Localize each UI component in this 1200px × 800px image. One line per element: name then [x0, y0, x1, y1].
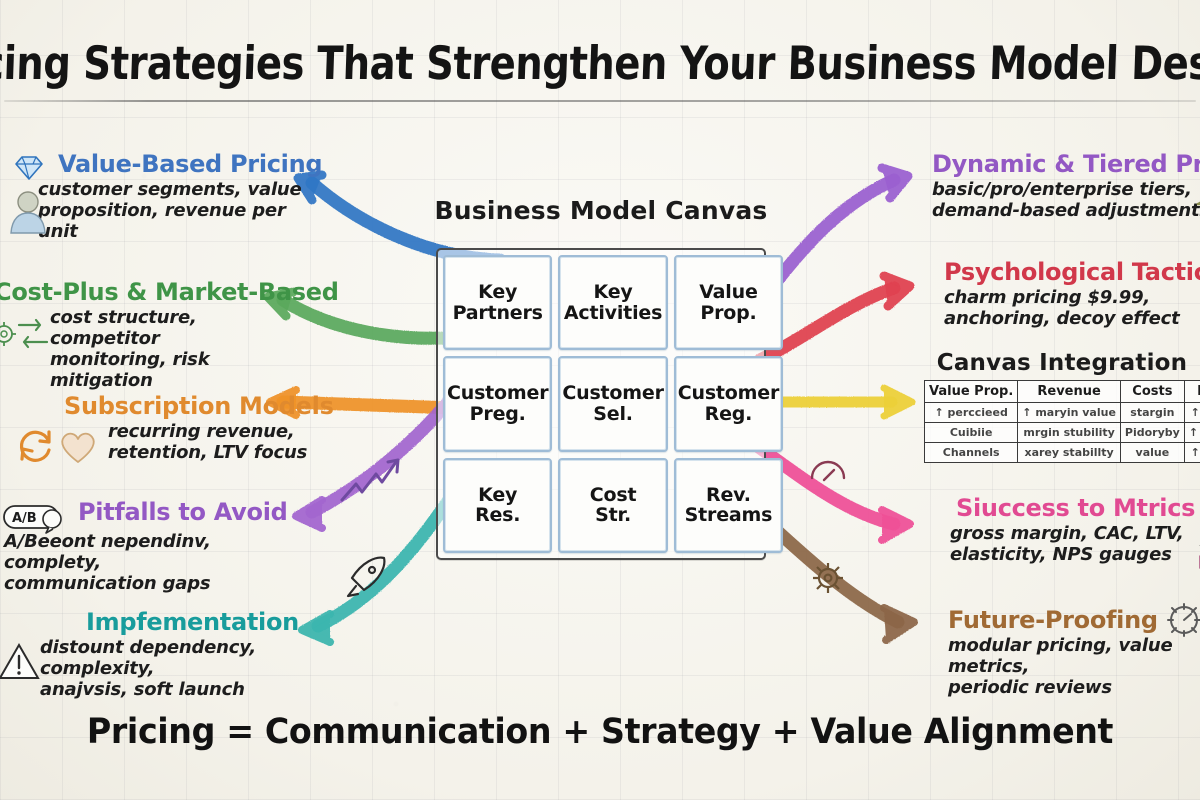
table-cell: mrgin stubility: [1018, 423, 1121, 443]
entry-desc: gross margin, CAC, LTV,elasticity, NPS g…: [950, 524, 1200, 566]
canvas-cell-key-res[interactable]: KeyRes.: [443, 458, 552, 553]
table-cell: ↑ maryin value: [1018, 403, 1121, 423]
table-row: ↑ perccieed ↑ maryin value stargin ↑ tra…: [925, 403, 1200, 423]
footer-equation-text: Pricing = Communication + Strategy + Val…: [87, 712, 1113, 752]
entry-desc: basic/pro/enterprise tiers,demand-based …: [932, 180, 1200, 222]
table-header-cell: Revenue: [1018, 381, 1121, 403]
integration-table: Value Prop. Revenue Costs Relations ↑ pe…: [924, 380, 1200, 463]
table-cell: Cuibiie: [925, 423, 1018, 443]
title-underline-rule: [4, 100, 1196, 102]
entry-pitfalls-to-avoid[interactable]: A/B Pitfalls to Avoid A/Beeont nependinv…: [0, 500, 310, 595]
table-cell: stargin: [1120, 403, 1184, 423]
table-row: Cuibiie mrgin stubility Pidoryby ↑ trans…: [925, 423, 1200, 443]
entry-desc: A/Beeont nependinv, complety,communicati…: [0, 532, 310, 595]
entry-desc: customer segments, valueproposition, rev…: [8, 180, 308, 243]
canvas-cell-rev-streams[interactable]: Rev.Streams: [674, 458, 783, 553]
canvas-grid: KeyPartners KeyActivities ValueProp. Cus…: [443, 255, 759, 553]
table-header-cell: Value Prop.: [925, 381, 1018, 403]
tiers-stack-icon: [1192, 194, 1200, 234]
entry-heading: Psychological Tactics: [944, 260, 1200, 284]
svg-text:A/B: A/B: [12, 511, 37, 526]
table-cell: xarey stabillty: [1018, 443, 1121, 463]
business-model-canvas: Business Model Canvas KeyPartners KeyAct…: [436, 248, 766, 560]
canvas-cell-key-partners[interactable]: KeyPartners: [443, 255, 552, 350]
table-header-cell: Costs: [1120, 381, 1184, 403]
canvas-cell-customer-reg[interactable]: CustomerReg.: [674, 356, 783, 451]
table-cell: Pidoryby: [1120, 423, 1184, 443]
exchange-arrows-icon: [16, 312, 50, 356]
entry-psychological-tactics[interactable]: Psychological Tactics charm pricing $9.9…: [944, 260, 1200, 330]
entry-desc: charm pricing $9.99,anchoring, decoy eff…: [944, 288, 1200, 330]
bar-chart-icon: [1194, 526, 1200, 574]
table-cell: ↑ perccieed: [925, 403, 1018, 423]
entry-heading: Value-Based Pricing: [58, 152, 308, 176]
entry-cost-plus-market-based[interactable]: Cost-Plus & Market-Based cost structure,…: [0, 280, 304, 392]
table-header-cell: Relations: [1184, 381, 1200, 403]
entry-heading: Siuccess to Mtrics: [956, 496, 1200, 520]
gear-clock-icon: [1162, 598, 1200, 642]
page-title: Pricing Strategies That Strengthen Your …: [0, 36, 1200, 90]
canvas-integration-table-block: Canvas Integration Value Prop. Revenue C…: [924, 350, 1200, 463]
refresh-cycle-icon: [16, 426, 56, 466]
entry-future-proofing[interactable]: Future-Proofing modular pricing, value m…: [948, 608, 1200, 699]
entry-subscription-models[interactable]: Subscription Models recurring revenue,re…: [16, 394, 316, 464]
table-cell: ↑ transparen: [1184, 403, 1200, 423]
person-icon: [8, 188, 48, 234]
entry-success-metrics[interactable]: Siuccess to Mtrics gross margin, CAC, LT…: [956, 496, 1200, 566]
entry-heading: Cost-Plus & Market-Based: [0, 280, 304, 304]
table-cell: Channels: [925, 443, 1018, 463]
canvas-cell-customer-sel[interactable]: CustomerSel.: [558, 356, 667, 451]
entry-heading: Pitfalls to Avoid: [78, 500, 310, 524]
ab-test-badge-icon: A/B: [2, 502, 72, 536]
diamond-icon: [12, 154, 46, 182]
warning-triangle-icon: [0, 640, 42, 682]
table-row: Channels xarey stabillty value ↑ transpa…: [925, 443, 1200, 463]
canvas-cell-cost-str[interactable]: CostStr.: [558, 458, 667, 553]
footer-equation: Pricing = Communication + Strategy + Val…: [60, 712, 1140, 752]
entry-heading: Subscription Models: [64, 394, 316, 418]
page-title-text: Pricing Strategies That Strengthen Your …: [0, 36, 1200, 90]
integration-title: Canvas Integration: [924, 350, 1200, 376]
entry-desc: distount dependency, complexity,anajvsis…: [0, 638, 310, 701]
canvas-cell-value-prop[interactable]: ValueProp.: [674, 255, 783, 350]
table-cell: value: [1120, 443, 1184, 463]
canvas-title: Business Model Canvas: [435, 196, 768, 225]
entry-implementation[interactable]: Impfementation distount dependency, comp…: [0, 610, 310, 701]
entry-heading: Dynamic & Tiered Pricing: [932, 152, 1200, 176]
heart-icon: [56, 426, 100, 466]
table-cell: ↑ transparen: [1184, 443, 1200, 463]
title-block: Pricing Strategies That Strengthen Your …: [0, 36, 1200, 108]
entry-value-based-pricing[interactable]: Value-Based Pricing customer segments, v…: [8, 152, 308, 243]
entry-heading: Impfementation: [86, 610, 310, 634]
table-cell: ↑ transparem: [1184, 423, 1200, 443]
entry-desc: modular pricing, value metrics,periodic …: [948, 636, 1200, 699]
table-header-row: Value Prop. Revenue Costs Relations: [925, 381, 1200, 403]
entry-dynamic-tiered-pricing[interactable]: Dynamic & Tiered Pricing basic/pro/enter…: [932, 152, 1200, 222]
canvas-cell-key-activities[interactable]: KeyActivities: [558, 255, 667, 350]
canvas-cell-customer-preg[interactable]: CustomerPreg.: [443, 356, 552, 451]
